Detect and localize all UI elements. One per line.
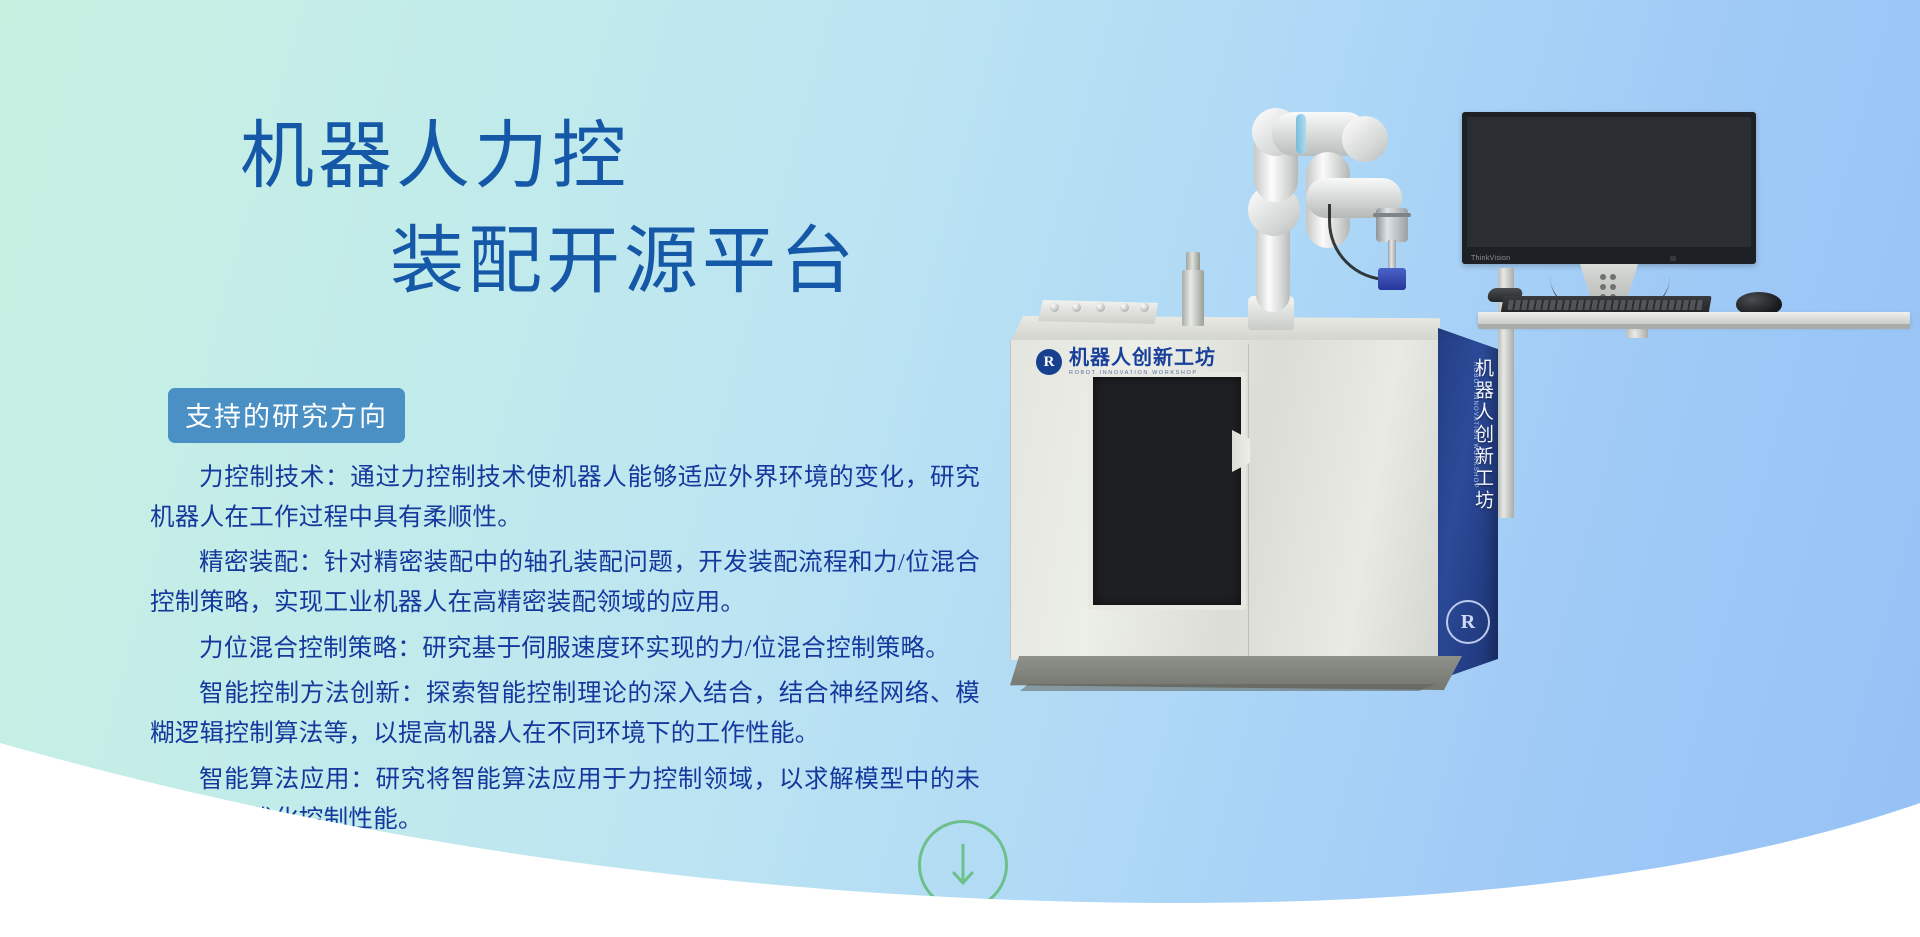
list-item: 精密装配：针对精密装配中的轴孔装配问题，开发装配流程和力/位混合控制策略，实现工… bbox=[150, 543, 980, 622]
robot-arm-wrist-joint bbox=[1342, 116, 1388, 162]
cabinet-panel-seam bbox=[1248, 344, 1249, 656]
brand-name-cn: 机器人创新工坊 bbox=[1069, 348, 1216, 368]
tool-shaft bbox=[1388, 240, 1396, 270]
gripper bbox=[1378, 268, 1406, 290]
hero-banner: 机器人力控 装配开源平台 支持的研究方向 力控制技术：通过力控制技术使机器人能够… bbox=[0, 0, 1920, 937]
monitor-screen bbox=[1467, 117, 1751, 247]
fixture-post bbox=[1182, 270, 1204, 326]
workbench-fixture-plate bbox=[1038, 300, 1158, 324]
arrow-down-icon bbox=[950, 842, 976, 888]
page-title-line2: 装配开源平台 bbox=[150, 210, 970, 315]
brand-name-en: ROBOT INNOVATION WORKSHOP bbox=[1069, 371, 1216, 377]
monitor: ThinkVision bbox=[1462, 112, 1756, 264]
force-sensor bbox=[1376, 208, 1408, 242]
research-directions-badge: 支持的研究方向 bbox=[168, 388, 405, 443]
keyboard-tray-edge bbox=[1478, 324, 1910, 329]
side-panel-brand-en: ROBOT INNOVATION WORKSHOP bbox=[1472, 362, 1478, 562]
cabinet-foot-shadow bbox=[1020, 684, 1440, 691]
list-item: 智能算法应用：研究将智能算法应用于力控制领域，以求解模型中的未知参数并优化控制性… bbox=[150, 760, 980, 839]
scroll-down-button[interactable] bbox=[918, 820, 1008, 910]
research-directions-list: 力控制技术：通过力控制技术使机器人能够适应外界环境的变化，研究机器人在工作过程中… bbox=[150, 458, 980, 845]
robot-arm-accent-ring bbox=[1296, 114, 1306, 154]
cabinet-logo: R 机器人创新工坊 ROBOT INNOVATION WORKSHOP bbox=[1036, 343, 1242, 381]
side-panel-brand-mark-icon: R bbox=[1446, 600, 1490, 644]
cabinet-window bbox=[1088, 372, 1246, 610]
brand-mark-icon: R bbox=[1036, 349, 1062, 375]
product-photo: ThinkVision R 机器人创新工坊 ROBOT INNOVATION W… bbox=[1010, 100, 1890, 820]
list-item: 力位混合控制策略：研究基于伺服速度环实现的力/位混合控制策略。 bbox=[150, 629, 980, 669]
page-title: 机器人力控 装配开源平台 bbox=[150, 105, 970, 315]
hero-copy: 机器人力控 装配开源平台 支持的研究方向 力控制技术：通过力控制技术使机器人能够… bbox=[0, 0, 1000, 937]
monitor-brand-label: ThinkVision bbox=[1471, 255, 1510, 262]
list-item: 力控制技术：通过力控制技术使机器人能够适应外界环境的变化，研究机器人在工作过程中… bbox=[150, 458, 980, 537]
side-panel-brand-cn: 机器人创新工坊 bbox=[1442, 358, 1496, 588]
monitor-control-buttons bbox=[1670, 256, 1742, 261]
list-item: 智能控制方法创新：探索智能控制理论的深入结合，结合神经网络、模糊逻辑控制算法等，… bbox=[150, 674, 980, 753]
page-title-line1: 机器人力控 bbox=[150, 105, 970, 210]
